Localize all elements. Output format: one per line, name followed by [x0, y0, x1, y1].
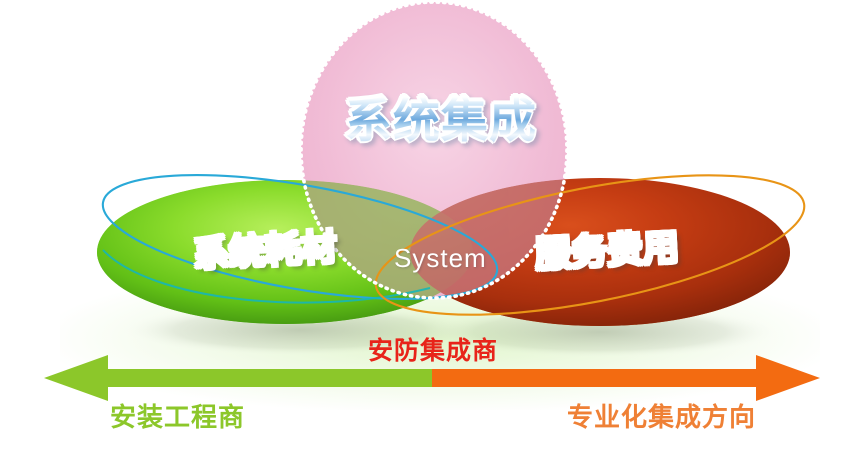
- venn-diagram: 系统集成 系统耗材 服务费用 System 安防集成商 安装工程商 专业化集成方…: [0, 0, 865, 450]
- center-top-title: 系统集成: [345, 97, 537, 144]
- axis-right-label: 专业化集成方向: [567, 404, 756, 430]
- center-overlap-label: System: [394, 245, 487, 271]
- venn-svg: [0, 0, 865, 450]
- diagram-canvas: 系统集成 系统耗材 服务费用 System 安防集成商 安装工程商 专业化集成方…: [0, 0, 865, 450]
- right-lobe-label: 服务费用: [534, 229, 680, 272]
- axis-left-label: 安装工程商: [110, 404, 245, 430]
- axis-center-label: 安防集成商: [368, 339, 498, 364]
- left-lobe-label: 系统耗材: [192, 229, 338, 272]
